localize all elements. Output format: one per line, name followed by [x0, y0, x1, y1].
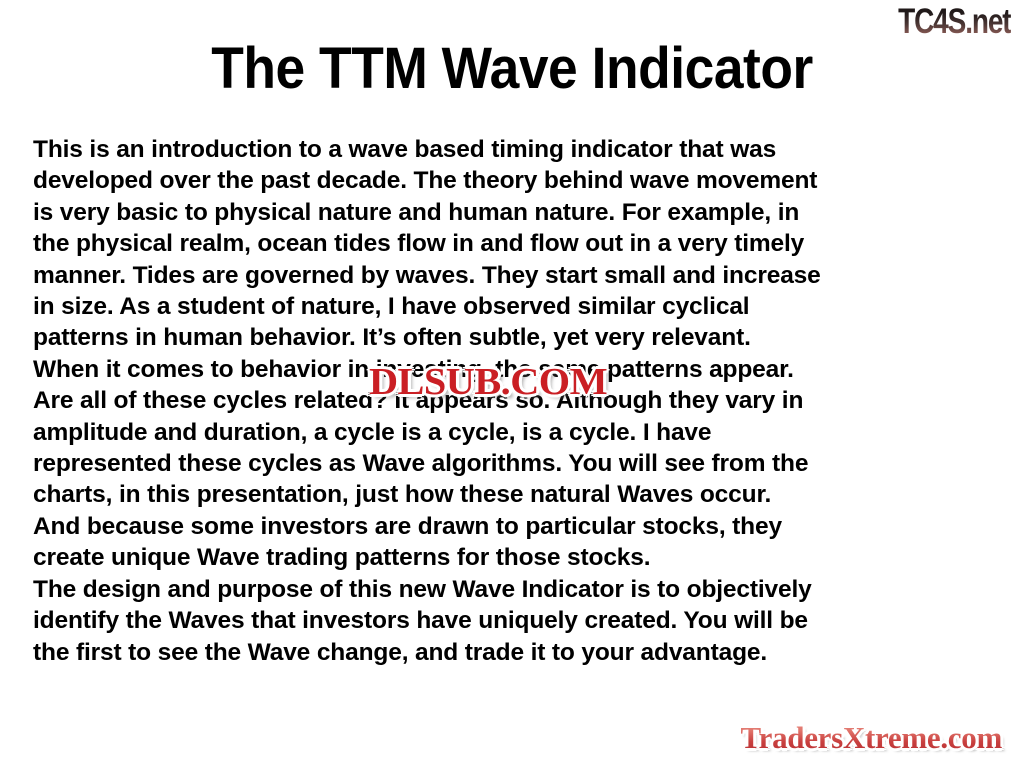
body-line: charts, in this presentation, just how t… — [33, 479, 995, 510]
body-line: developed over the past decade. The theo… — [33, 165, 995, 196]
body-line: in size. As a student of nature, I have … — [33, 291, 995, 322]
body-line: represented these cycles as Wave algorit… — [33, 448, 995, 479]
body-line: identify the Waves that investors have u… — [33, 605, 995, 636]
body-paragraph: This is an introduction to a wave based … — [33, 134, 995, 385]
body-line: create unique Wave trading patterns for … — [33, 542, 995, 573]
body-line: This is an introduction to a wave based … — [33, 134, 995, 165]
body-line: patterns in human behavior. It’s often s… — [33, 322, 995, 353]
body-line: The design and purpose of this new Wave … — [33, 574, 995, 605]
slide-title: The TTM Wave Indicator — [41, 36, 983, 102]
body-line: is very basic to physical nature and hum… — [33, 197, 995, 228]
presentation-slide: TC4S.net The TTM Wave Indicator This is … — [0, 0, 1024, 768]
body-line: manner. Tides are governed by waves. The… — [33, 260, 995, 291]
tradersxtreme-logo-fill: TradersXtreme.com — [741, 720, 1002, 755]
tradersxtreme-brand-logo: TradersXtreme.com TradersXtreme.com — [741, 720, 1002, 756]
body-line: And because some investors are drawn to … — [33, 511, 995, 542]
body-paragraph: Are all of these cycles related? It appe… — [33, 385, 995, 573]
body-line: amplitude and duration, a cycle is a cyc… — [33, 417, 995, 448]
body-line: the first to see the Wave change, and tr… — [33, 637, 995, 668]
body-line: the physical realm, ocean tides flow in … — [33, 228, 995, 259]
body-paragraph: The design and purpose of this new Wave … — [33, 574, 995, 668]
dlsub-watermark: DLSUB.COM — [369, 362, 607, 402]
